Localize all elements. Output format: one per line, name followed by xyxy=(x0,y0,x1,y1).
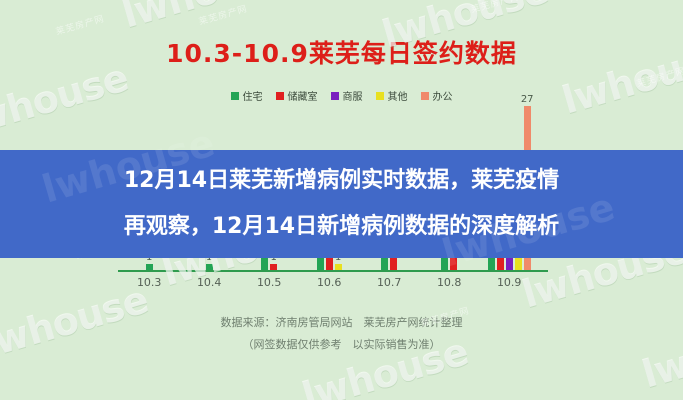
footnote-note: （网签数据仅供参考 以实际销售为准） xyxy=(0,334,683,356)
screenshot-root: lwhouse lwhouse lwhouse lwhouse lwhouse … xyxy=(0,0,683,400)
bar-value-label: 27 xyxy=(521,94,534,105)
chart-bar: 1 xyxy=(206,264,213,270)
x-tick-label: 10.8 xyxy=(437,276,462,289)
x-tick-label: 10.5 xyxy=(257,276,282,289)
headline-line-1: 12月14日莱芜新增病例实时数据，莱芜疫情 xyxy=(124,158,559,204)
footnote-source: 数据来源：济南房管局网站 莱芜房产网统计整理 xyxy=(0,312,683,334)
chart-bar: 2 xyxy=(450,258,457,270)
legend-swatch-icon xyxy=(376,92,384,100)
chart-bar: 2 xyxy=(497,258,504,270)
x-tick-label: 10.4 xyxy=(197,276,222,289)
x-tick-label: 10.3 xyxy=(137,276,162,289)
x-axis-line xyxy=(118,270,548,272)
headline-banner: lwhouse lwhouse 12月14日莱芜新增病例实时数据，莱芜疫情 再观… xyxy=(0,150,683,258)
x-axis-tick-labels: 10.310.410.510.610.710.810.9 xyxy=(118,276,538,292)
legend-swatch-icon xyxy=(421,92,429,100)
chart-bar: 1 xyxy=(146,264,153,270)
chart-title: 10.3-10.9莱芜每日签约数据 xyxy=(0,34,683,70)
x-tick-label: 10.6 xyxy=(317,276,342,289)
chart-bar: 2 xyxy=(326,258,333,270)
headline-line-2: 再观察，12月14日新增病例数据的深度解析 xyxy=(124,204,559,250)
x-tick-label: 10.7 xyxy=(377,276,402,289)
legend-swatch-icon xyxy=(276,92,284,100)
chart-bar: 2 xyxy=(515,258,522,270)
chart-bar: 1 xyxy=(270,264,277,270)
chart-footnote: 数据来源：济南房管局网站 莱芜房产网统计整理 （网签数据仅供参考 以实际销售为准… xyxy=(0,312,683,356)
legend-swatch-icon xyxy=(331,92,339,100)
chart-bar: 1 xyxy=(335,264,342,270)
legend-swatch-icon xyxy=(231,92,239,100)
x-tick-label: 10.9 xyxy=(497,276,522,289)
